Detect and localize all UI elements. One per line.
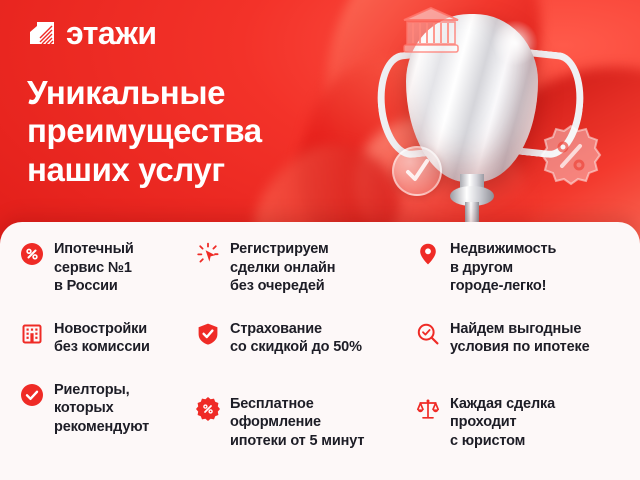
page-title: Уникальные преимущества наших услуг	[27, 74, 357, 189]
feature-line: Регистрируем	[230, 240, 335, 259]
feature-line: проходит	[450, 413, 555, 432]
feature-line: оформление	[230, 413, 364, 432]
feature-line: которых	[54, 399, 149, 418]
shield-check-icon	[196, 322, 220, 346]
feature-line: Найдем выгодные	[450, 320, 590, 339]
feature-item: Недвижимость в другом городе-легко!	[416, 240, 640, 296]
clock-icon	[392, 146, 442, 196]
features-card: Ипотечный сервис №1 в России	[0, 222, 640, 480]
features-column-1: Ипотечный сервис №1 в России	[0, 240, 196, 466]
feature-line: городе-легко!	[450, 277, 556, 296]
features-column-3: Недвижимость в другом городе-легко!	[406, 240, 640, 466]
feature-item: Бесплатное оформление ипотеки от 5 минут	[196, 395, 406, 451]
feature-label: Каждая сделка проходит с юристом	[450, 395, 555, 451]
features-columns: Ипотечный сервис №1 в России	[0, 222, 640, 466]
feature-label: Регистрируем сделки онлайн без очередей	[230, 240, 335, 296]
percent-seal-icon	[196, 397, 220, 421]
feature-item: Регистрируем сделки онлайн без очередей	[196, 240, 406, 296]
feature-label: Ипотечный сервис №1 в России	[54, 240, 134, 296]
feature-line: рекомендуют	[54, 418, 149, 437]
feature-line: Страхование	[230, 320, 362, 339]
search-check-icon	[416, 322, 440, 346]
feature-line: сделки онлайн	[230, 259, 335, 278]
promo-banner: этажи Уникальные преимущества наших услу…	[0, 0, 640, 480]
feature-line: ипотеки от 5 минут	[230, 432, 364, 451]
feature-label: Новостройки без комиссии	[54, 320, 150, 357]
feature-item: Ипотечный сервис №1 в России	[20, 240, 196, 296]
percent-circle-icon	[20, 242, 44, 266]
apartment-building-icon	[20, 322, 44, 346]
feature-item: Каждая сделка проходит с юристом	[416, 395, 640, 451]
feature-line: в России	[54, 277, 134, 296]
feature-line: с юристом	[450, 432, 555, 451]
check-circle-icon	[20, 383, 44, 407]
feature-item: Риелторы, которых рекомендуют	[20, 381, 196, 437]
feature-label: Страхование со скидкой до 50%	[230, 320, 362, 357]
feature-label: Недвижимость в другом городе-легко!	[450, 240, 556, 296]
feature-label: Найдем выгодные условия по ипотеке	[450, 320, 590, 357]
feature-item: Страхование со скидкой до 50%	[196, 320, 406, 357]
headline-line-3: наших услуг	[27, 151, 357, 189]
cursor-click-icon	[196, 242, 220, 266]
bank-building-icon	[402, 6, 460, 58]
feature-line: Риелторы,	[54, 381, 149, 400]
brand-name: этажи	[66, 17, 157, 49]
percent-seal-icon	[540, 124, 602, 188]
feature-label: Риелторы, которых рекомендуют	[54, 381, 149, 437]
map-pin-icon	[416, 242, 440, 266]
feature-line: Новостройки	[54, 320, 150, 339]
feature-item: Новостройки без комиссии	[20, 320, 196, 357]
feature-item: Найдем выгодные условия по ипотеке	[416, 320, 640, 357]
features-column-2: Регистрируем сделки онлайн без очередей …	[196, 240, 406, 466]
feature-line: без очередей	[230, 277, 335, 296]
hero-section: этажи Уникальные преимущества наших услу…	[0, 0, 640, 252]
feature-line: Бесплатное	[230, 395, 364, 414]
feature-line: Ипотечный	[54, 240, 134, 259]
scales-justice-icon	[416, 397, 440, 421]
brand-logo[interactable]: этажи	[27, 17, 157, 49]
feature-line: Каждая сделка	[450, 395, 555, 414]
trophy-highlight	[492, 20, 538, 66]
feature-line: без комиссии	[54, 338, 150, 357]
feature-line: в другом	[450, 259, 556, 278]
feature-label: Бесплатное оформление ипотеки от 5 минут	[230, 395, 364, 451]
building-logo-icon	[27, 18, 57, 48]
headline-line-1: Уникальные	[27, 74, 357, 112]
feature-line: сервис №1	[54, 259, 134, 278]
headline-line-2: преимущества	[27, 112, 357, 150]
feature-line: условия по ипотеке	[450, 338, 590, 357]
feature-line: Недвижимость	[450, 240, 556, 259]
feature-line: со скидкой до 50%	[230, 338, 362, 357]
